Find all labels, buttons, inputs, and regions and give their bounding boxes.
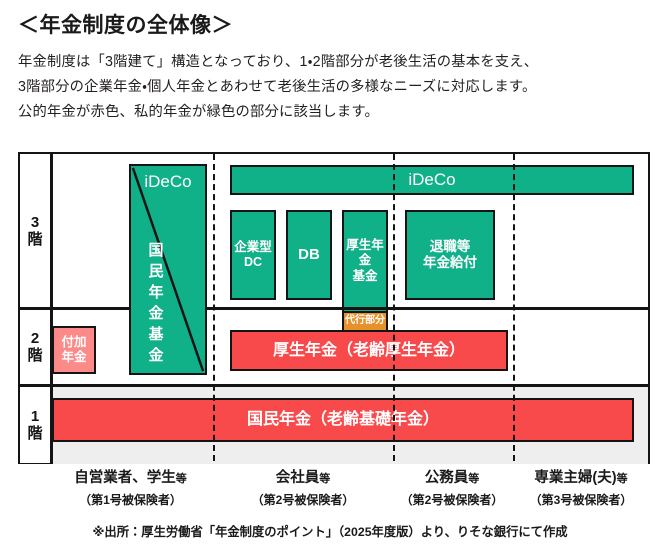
db-box[interactable]: DB [286,210,332,300]
ideco-kokumin-nenkin-kikin-box[interactable]: iDeCo 国 民 年 金 基 金 [129,164,207,375]
ideco-label: iDeCo [131,172,205,192]
pension-structure-diagram: 3 階 2 階 1 階 iDeCo 国 民 年 金 基 金 iDeCo 企業型 … [18,152,650,464]
floor-separator-2-1 [20,384,648,387]
intro-line: 公的年金が赤色、私的年金が緑色の部分に該当します。 [18,100,648,125]
category-employee: 会社員等 （第2号被保険者） [214,468,392,510]
floor-unit: 階 [27,231,42,248]
category-self-employed: 自営業者、学生等 （第1号被保険者） [48,468,213,510]
page-title: ＜年金制度の全体像＞ [18,12,648,39]
floor-unit: 階 [27,347,42,364]
ideco-wide-bar[interactable]: iDeCo [230,165,634,195]
kokumin-nenkin-kikin-label: 国 民 年 金 基 金 [145,240,167,366]
category-sub-label: （第2号被保険者） [393,490,511,510]
category-sub-label: （第3号被保険者） [512,490,650,510]
diagonal-divider-line [131,166,205,373]
category-sub-label: （第1号被保険者） [48,490,213,510]
category-sub-label: （第2号被保険者） [214,490,392,510]
category-main-label: 専業主婦(夫)等 [512,468,650,489]
category-public-servant: 公務員等 （第2号被保険者） [393,468,511,510]
floor-separator-3-2 [20,307,648,310]
daiko-bubun-box[interactable]: 代行部分 [342,311,388,332]
floor-label-1: 1 階 [20,387,50,463]
category-homemaker: 専業主婦(夫)等 （第3号被保険者） [512,468,650,510]
source-note: ※出所：厚生労働省「年金制度のポイント」（2025年度版）より、りそな銀行にて作… [0,522,660,540]
intro-paragraph: 年金制度は「3階建て」構造となっており、1・2階部分が老後生活の基本を支え、 3… [18,50,648,125]
intro-line: 年金制度は「3階建て」構造となっており、1・2階部分が老後生活の基本を支え、 [18,50,648,75]
fuka-nenkin-box[interactable]: 付加 年金 [52,326,96,374]
floor-label-3: 3 階 [20,154,50,307]
floor-unit: 階 [27,425,42,442]
floor-number: 3 [27,214,42,231]
kosei-nenkin-bar[interactable]: 厚生年金（老齢厚生年金） [230,330,508,371]
floor-number: 1 [27,408,42,425]
intro-line: 3階部分の企業年金・個人年金とあわせて老後生活の多様なニーズに対応します。 [18,75,648,100]
category-main-label: 会社員等 [214,468,392,489]
kokumin-nenkin-bar[interactable]: 国民年金（老齢基礎年金） [52,398,634,442]
category-main-label: 自営業者、学生等 [48,468,213,489]
floor-number: 2 [27,330,42,347]
category-main-label: 公務員等 [393,468,511,489]
insured-category-labels: 自営業者、学生等 （第1号被保険者） 会社員等 （第2号被保険者） 公務員等 （… [18,468,650,516]
taishoku-nenkin-kyufu-box[interactable]: 退職等 年金給付 [405,210,495,300]
header: ＜年金制度の全体像＞ 年金制度は「3階建て」構造となっており、1・2階部分が老後… [18,12,648,125]
floor-label-2: 2 階 [20,310,50,385]
kigyo-gata-dc-box[interactable]: 企業型 DC [230,210,276,300]
